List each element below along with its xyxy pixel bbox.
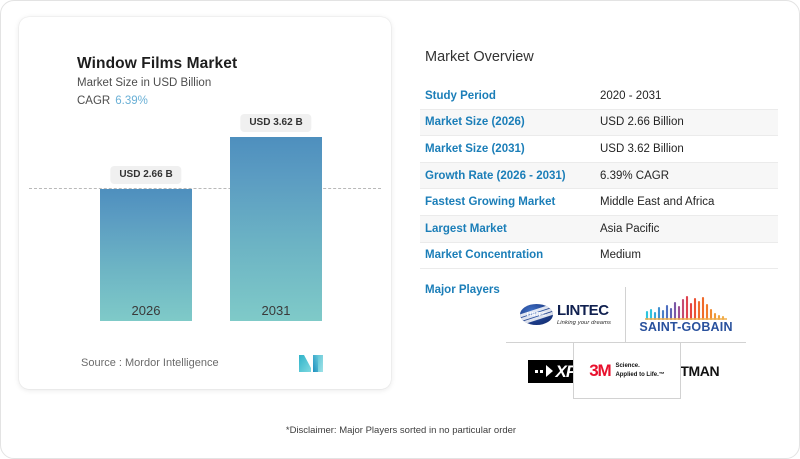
row-value: USD 3.62 Billion <box>600 143 684 155</box>
table-row: Growth Rate (2026 - 2031) 6.39% CAGR <box>420 163 778 190</box>
xpel-dots-icon <box>535 370 543 373</box>
lintec-logo: LINTEC LINTEC Linking your dreams <box>520 303 611 326</box>
row-label: Market Concentration <box>425 249 600 261</box>
bar-chart-plot: USD 2.66 B 2026 USD 3.62 B 2031 <box>19 117 391 349</box>
lintec-wordmark: LINTEC <box>557 303 611 318</box>
market-overview-table: Study Period 2020 - 2031 Market Size (20… <box>420 83 778 269</box>
row-label: Market Size (2031) <box>425 143 600 155</box>
table-row: Study Period 2020 - 2031 <box>420 83 778 110</box>
row-value: Middle East and Africa <box>600 196 714 208</box>
lintec-text-block: LINTEC Linking your dreams <box>557 303 611 326</box>
bar-2026 <box>100 189 192 321</box>
row-label: Largest Market <box>425 223 600 235</box>
x-axis-label-2031: 2031 <box>262 303 291 318</box>
lintec-emblem-icon: LINTEC <box>520 304 553 325</box>
saint-gobain-logo: SAINT-GOBAIN <box>639 295 732 334</box>
logo-cell-saint-gobain: SAINT-GOBAIN <box>626 287 746 343</box>
table-row: Market Concentration Medium <box>420 243 778 270</box>
x-axis-label-2026: 2026 <box>132 303 161 318</box>
bar-group-2031: USD 3.62 B 2031 <box>230 137 322 321</box>
xpel-triangle-icon <box>546 365 553 377</box>
cagr-value: 6.39% <box>115 95 148 107</box>
lintec-emblem-text: LINTEC <box>527 312 546 318</box>
row-label: Growth Rate (2026 - 2031) <box>425 170 600 182</box>
logo-cell-3m: 3M Science.Applied to Life.™ <box>573 342 681 399</box>
chart-card: Window Films Market Market Size in USD B… <box>19 17 391 389</box>
table-row: Market Size (2026) USD 2.66 Billion <box>420 110 778 137</box>
row-value: 6.39% CAGR <box>600 170 669 182</box>
bar-2031 <box>230 137 322 321</box>
table-row: Largest Market Asia Pacific <box>420 216 778 243</box>
row-label: Fastest Growing Market <box>425 196 600 208</box>
row-label: Study Period <box>425 90 600 102</box>
chart-title: Window Films Market <box>77 55 237 73</box>
row-label: Market Size (2026) <box>425 116 600 128</box>
cagr-row: CAGR 6.39% <box>77 95 148 107</box>
3m-wordmark: 3M <box>589 362 610 379</box>
saint-gobain-skyline-icon <box>643 295 729 321</box>
row-value: Medium <box>600 249 641 261</box>
source-row: Source : Mordor Intelligence <box>19 355 391 375</box>
source-text: Source : Mordor Intelligence <box>81 357 219 369</box>
bar-group-2026: USD 2.66 B 2026 <box>100 189 192 321</box>
mordor-intelligence-logo <box>299 355 323 372</box>
chart-subtitle: Market Size in USD Billion <box>77 77 211 89</box>
infographic-frame: Window Films Market Market Size in USD B… <box>0 0 800 459</box>
reference-dashed-line <box>29 188 381 189</box>
row-value: Asia Pacific <box>600 223 659 235</box>
saint-gobain-wordmark: SAINT-GOBAIN <box>639 321 732 334</box>
disclaimer-text: *Disclaimer: Major Players sorted in no … <box>1 425 800 436</box>
row-value: 2020 - 2031 <box>600 90 661 102</box>
major-players-label: Major Players <box>425 284 500 296</box>
row-value: USD 2.66 Billion <box>600 116 684 128</box>
bar-value-label-2026: USD 2.66 B <box>110 166 181 184</box>
lintec-tagline: Linking your dreams <box>557 320 611 326</box>
logo-cell-lintec: LINTEC LINTEC Linking your dreams <box>506 287 626 343</box>
cagr-label: CAGR <box>77 95 110 107</box>
3m-tagline: Science.Applied to Life.™ <box>615 362 664 378</box>
table-row: Fastest Growing Market Middle East and A… <box>420 189 778 216</box>
bar-value-label-2031: USD 3.62 B <box>240 114 311 132</box>
table-row: Market Size (2031) USD 3.62 Billion <box>420 136 778 163</box>
market-overview-title: Market Overview <box>425 49 534 65</box>
